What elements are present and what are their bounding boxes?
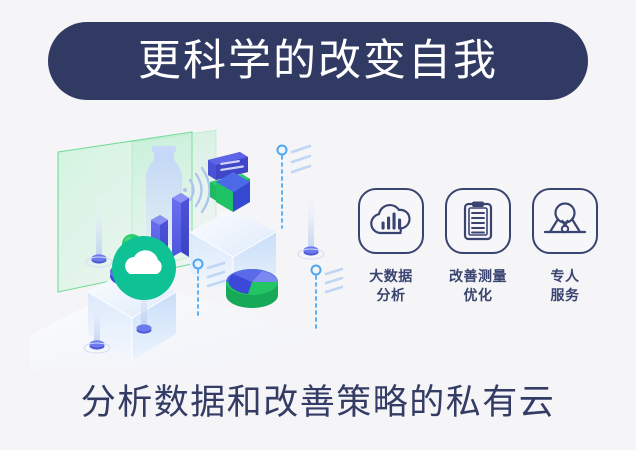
poster-canvas: 更科学的改变自我: [0, 0, 636, 450]
pie-chart-3d: [226, 269, 278, 308]
service-person-icon: [532, 188, 598, 254]
feature-label-big-data: 大数据 分析: [369, 267, 413, 306]
clipboard-icon: [445, 188, 511, 254]
feature-item-measurement[interactable]: 改善测量 优化: [439, 188, 517, 306]
features-row: 大数据 分析 改善测量 优化: [352, 188, 604, 333]
dotted-connector-upper: [278, 146, 311, 229]
right-gauge-pillar: [298, 192, 324, 259]
cloud-bar-chart-icon: [358, 188, 424, 254]
feature-label-service: 专人 服务: [551, 267, 580, 306]
feature-item-big-data[interactable]: 大数据 分析: [352, 188, 430, 306]
footer-tagline: 分析数据和改善策略的私有云: [0, 382, 636, 424]
feature-label-measurement: 改善测量 优化: [449, 267, 507, 306]
header-pill-banner: 更科学的改变自我: [48, 22, 588, 100]
dotted-connector-lower: [312, 266, 343, 329]
page-title: 更科学的改变自我: [138, 40, 498, 83]
hero-illustration: [20, 120, 350, 370]
illustration-svg: [20, 120, 350, 370]
feature-item-service[interactable]: 专人 服务: [526, 188, 604, 306]
